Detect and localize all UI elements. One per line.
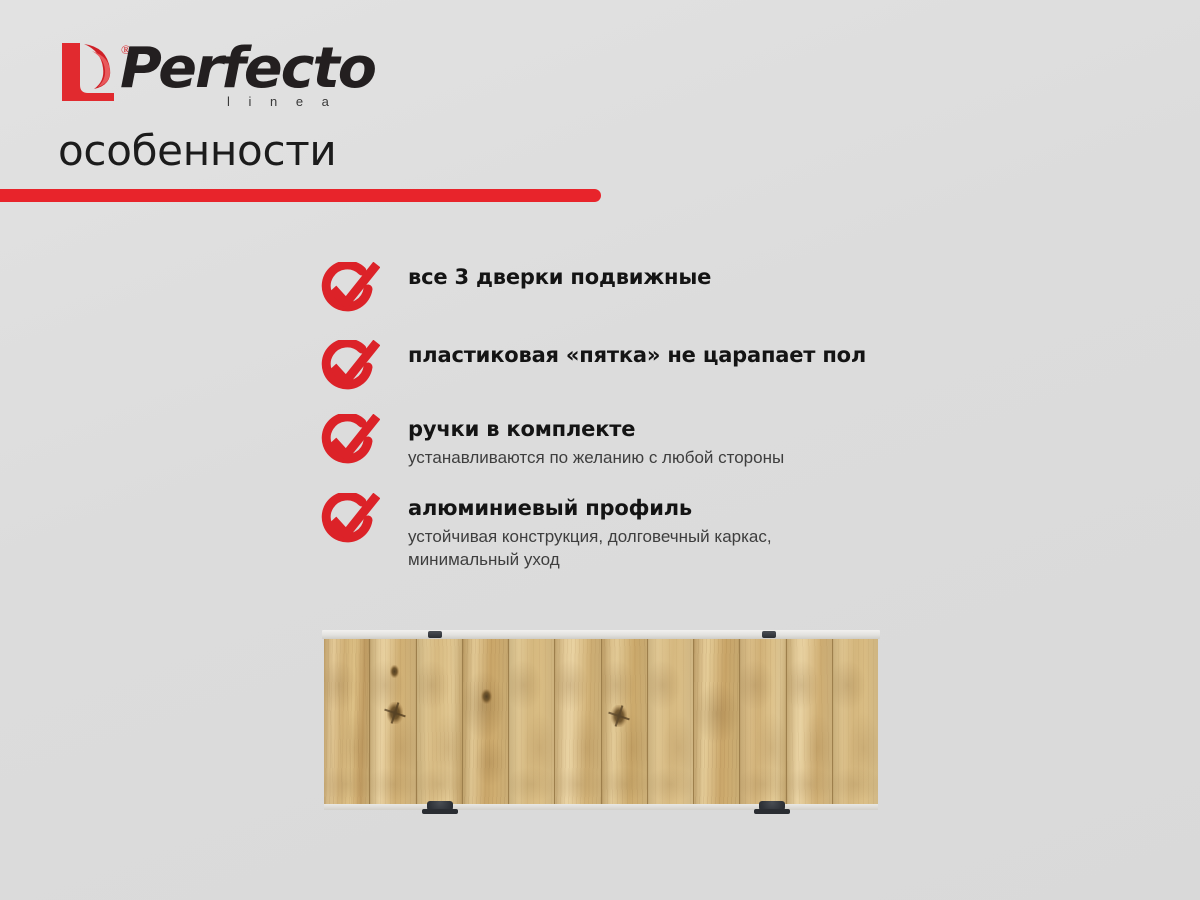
slat-shading <box>555 639 600 804</box>
wood-slat <box>694 639 740 804</box>
feature-text-block: пластиковая «пятка» не царапает пол <box>408 340 938 367</box>
feature-text-block: все 3 дверки подвижные <box>408 262 938 289</box>
feature-subtitle: устойчивая конструкция, долговечный карк… <box>408 525 938 571</box>
slat-shading <box>324 639 369 804</box>
page-title: особенности <box>58 126 336 175</box>
feature-text-block: алюминиевый профиль устойчивая конструкц… <box>408 493 938 571</box>
slide-canvas: ® Perfecto l i n e a особенности все 3 д… <box>0 0 1200 900</box>
rail-clip-hardware <box>762 631 776 638</box>
wood-slat <box>648 639 694 804</box>
wood-slat <box>787 639 833 804</box>
brand-name: Perfecto <box>120 36 375 101</box>
feature-title: ручки в комплекте <box>408 417 938 441</box>
slat-shading <box>648 639 693 804</box>
wood-slat <box>509 639 555 804</box>
slat-shading <box>370 639 415 804</box>
wood-slat-group <box>324 639 878 804</box>
list-item: пластиковая «пятка» не царапает пол <box>318 340 938 392</box>
wood-slat <box>602 639 648 804</box>
feature-title: алюминиевый профиль <box>408 496 938 520</box>
support-foot <box>759 801 785 814</box>
wood-slat <box>740 639 786 804</box>
slat-shading <box>833 639 878 804</box>
bath-screen-wood-panel-image <box>322 630 880 810</box>
check-circle-icon <box>318 493 380 551</box>
wood-slat <box>417 639 463 804</box>
slat-shading <box>463 639 508 804</box>
slat-shading <box>602 639 647 804</box>
list-item: все 3 дверки подвижные <box>318 262 938 314</box>
list-item: алюминиевый профиль устойчивая конструкц… <box>318 493 938 571</box>
wood-slat <box>833 639 878 804</box>
perfecto-swoosh-mark-icon <box>58 41 120 103</box>
title-underline-rule <box>0 189 601 202</box>
check-circle-icon <box>318 340 380 398</box>
slat-shading <box>417 639 462 804</box>
feature-list: все 3 дверки подвижные пластиковая «пятк… <box>318 258 938 571</box>
feature-subtitle: устанавливаются по желанию с любой сторо… <box>408 446 938 469</box>
rail-clip-hardware <box>428 631 442 638</box>
wood-slat <box>463 639 509 804</box>
feature-title: все 3 дверки подвижные <box>408 265 938 289</box>
check-circle-icon <box>318 262 380 320</box>
list-item: ручки в комплекте устанавливаются по жел… <box>318 414 938 469</box>
slat-shading <box>509 639 554 804</box>
wood-slat <box>324 639 370 804</box>
feature-text-block: ручки в комплекте устанавливаются по жел… <box>408 414 938 469</box>
bottom-rail <box>324 804 878 810</box>
brand-logo: ® Perfecto l i n e a <box>58 38 388 110</box>
check-circle-icon <box>318 414 380 472</box>
wood-slat <box>370 639 416 804</box>
slat-shading <box>694 639 739 804</box>
wood-slat <box>555 639 601 804</box>
slat-shading <box>787 639 832 804</box>
feature-title: пластиковая «пятка» не царапает пол <box>408 343 938 367</box>
brand-tagline: l i n e a <box>227 94 336 109</box>
slat-shading <box>740 639 785 804</box>
aluminium-top-rail <box>322 630 880 639</box>
support-foot <box>427 801 453 814</box>
